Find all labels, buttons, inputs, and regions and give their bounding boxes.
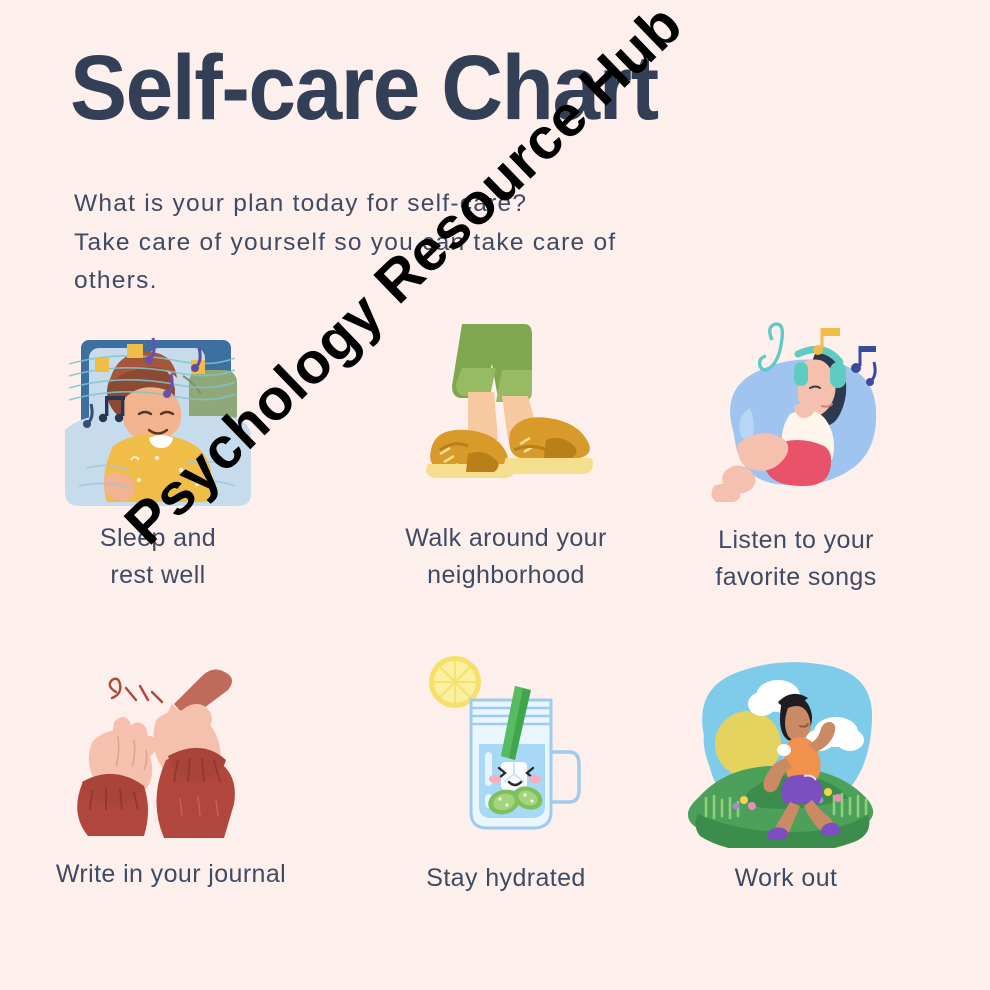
caption-sleep: Sleep and rest well	[40, 520, 276, 594]
walking-legs-sneakers-icon	[388, 318, 624, 508]
selfcare-item-journal[interactable]: Write in your journal	[40, 648, 302, 893]
poster-root: Self-care Chart What is your plan today …	[0, 0, 990, 990]
selfcare-item-music[interactable]: Listen to your favorite songs	[678, 318, 914, 596]
grid-row-1: Sleep and rest well	[0, 318, 990, 648]
grid-row-2: Write in your journal	[0, 648, 990, 978]
caption-music: Listen to your favorite songs	[678, 522, 914, 596]
selfcare-item-walk[interactable]: Walk around your neighborhood	[388, 318, 624, 594]
selfcare-item-sleep[interactable]: Sleep and rest well	[40, 318, 276, 594]
woman-headphones-beanbag-icon	[678, 318, 914, 510]
selfcare-item-hydrate[interactable]: Stay hydrated	[388, 648, 624, 897]
selfcare-grid: Sleep and rest well	[0, 318, 990, 978]
page-title: Self-care Chart	[70, 42, 658, 134]
caption-hydrate: Stay hydrated	[388, 860, 624, 897]
hands-writing-journal-icon	[40, 648, 302, 844]
caption-journal: Write in your journal	[40, 856, 302, 893]
subtitle-line-2: Take care of yourself so you can take ca…	[74, 224, 834, 263]
person-sleeping-in-bed-icon	[40, 318, 276, 508]
caption-walk: Walk around your neighborhood	[388, 520, 624, 594]
mason-jar-lemon-water-icon	[388, 648, 624, 848]
page-subtitle: What is your plan today for self-care? T…	[74, 185, 834, 301]
caption-workout: Work out	[668, 860, 904, 897]
woman-running-outdoors-icon	[668, 648, 904, 848]
selfcare-item-workout[interactable]: Work out	[668, 648, 904, 897]
subtitle-line-1: What is your plan today for self-care?	[74, 185, 834, 224]
subtitle-line-3: others.	[74, 262, 834, 301]
